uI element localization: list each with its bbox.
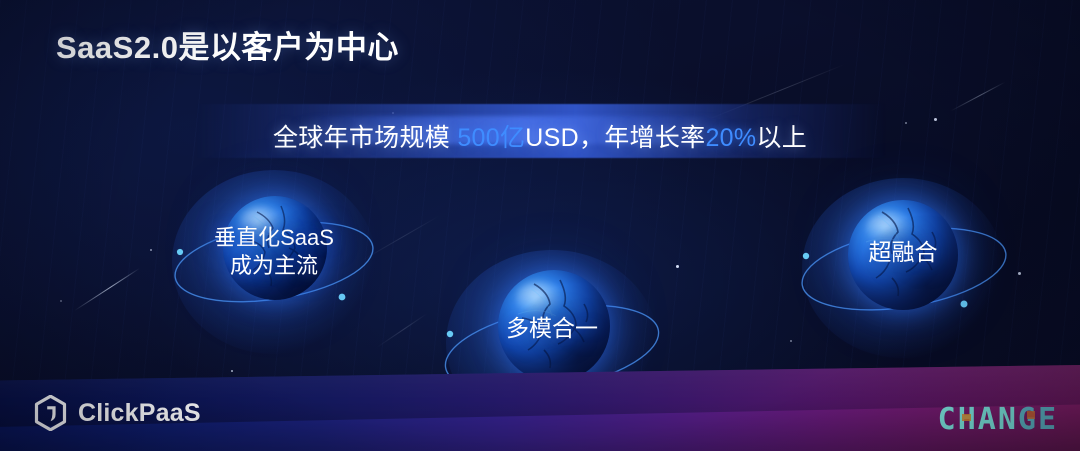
- globe-vertical-saas: 垂直化SaaS 成为主流: [178, 178, 370, 346]
- star-dot: [1018, 272, 1021, 275]
- globe-hyperconverged: 超融合: [808, 186, 998, 350]
- change-letter-c: C: [938, 402, 958, 437]
- globe-continents-icon: [498, 270, 610, 382]
- change-letter-e: E: [1038, 402, 1058, 437]
- globe-continents-icon: [223, 196, 327, 300]
- star-dot: [150, 249, 152, 251]
- star-dot: [676, 265, 679, 268]
- change-letter-h: H: [958, 402, 978, 437]
- brand-logo[interactable]: ClickPaaS: [34, 395, 201, 431]
- star-dot: [60, 300, 62, 302]
- light-streak: [361, 216, 439, 262]
- light-streak: [950, 82, 1005, 112]
- light-streak: [377, 313, 427, 347]
- light-streak: [705, 64, 844, 121]
- change-wordmark: CHANGE: [938, 402, 1058, 437]
- star-dot: [231, 370, 233, 372]
- globe-sphere: [498, 270, 610, 382]
- subtitle-accent-market-size: 500亿: [457, 124, 525, 152]
- hexagon-swirl-icon: [34, 395, 67, 431]
- light-streak: [74, 268, 140, 311]
- globe-sphere: [223, 196, 327, 300]
- globe-continents-icon: [848, 200, 958, 310]
- change-letter-g: G: [1018, 402, 1038, 437]
- subtitle: 全球年市场规模 500亿USD，年增长率20%以上: [0, 118, 1080, 154]
- slide-canvas: SaaS2.0是以客户为中心 全球年市场规模 500亿USD，年增长率20%以上: [0, 0, 1080, 451]
- subtitle-part3: 以上: [756, 124, 807, 152]
- globe-highlight: [866, 211, 914, 244]
- subtitle-part2: USD，年增长率: [525, 124, 705, 152]
- page-title: SaaS2.0是以客户为中心: [56, 22, 399, 67]
- subtitle-part1: 全球年市场规模: [273, 124, 457, 152]
- change-letter-n: N: [998, 402, 1018, 437]
- globe-sphere: [848, 200, 958, 310]
- subtitle-accent-growth-rate: 20%: [705, 124, 756, 152]
- brand-name: ClickPaaS: [78, 399, 201, 428]
- globe-highlight: [240, 206, 286, 237]
- change-letter-a: A: [978, 402, 998, 437]
- star-dot: [392, 112, 394, 114]
- globe-highlight: [516, 281, 565, 315]
- star-dot: [790, 340, 792, 342]
